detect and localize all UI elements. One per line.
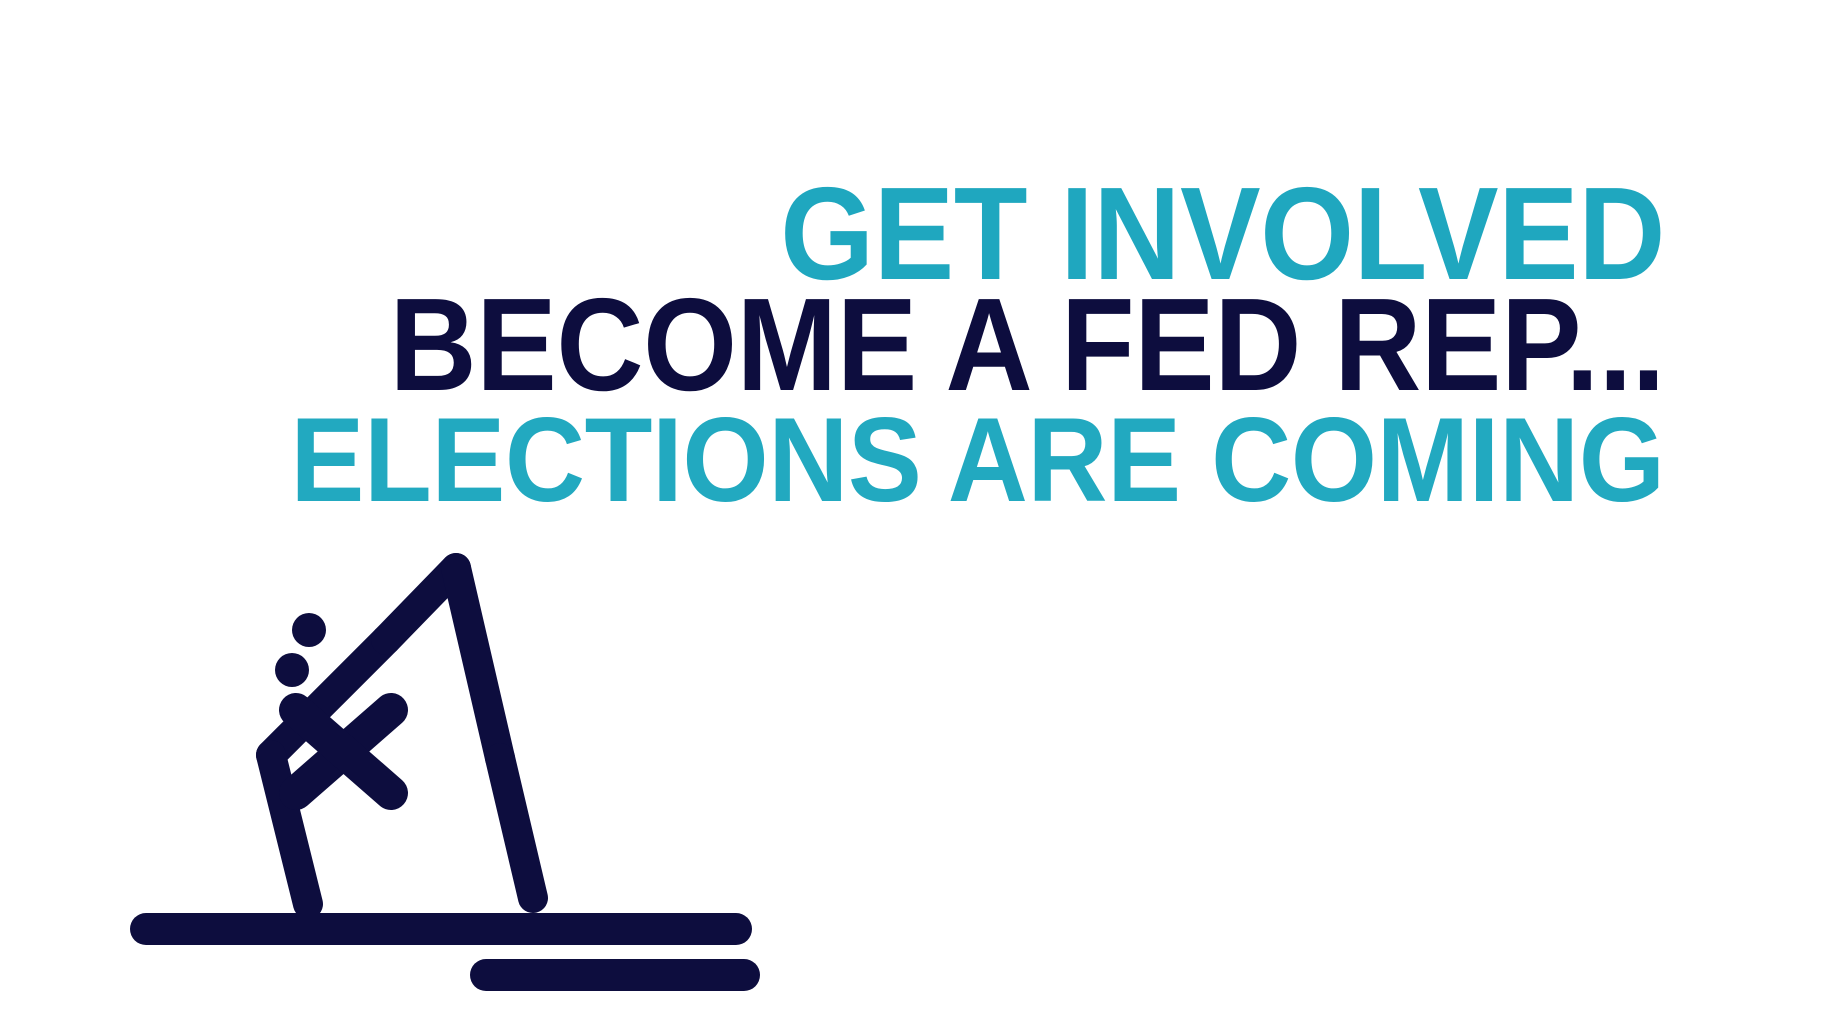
ballot-box-icon-svg [96, 540, 776, 1020]
headline-block: GET INVOLVED BECOME A FED REP... ELECTIO… [0, 0, 1829, 560]
ballot-box-icon [96, 540, 776, 1020]
promo-slide: GET INVOLVED BECOME A FED REP... ELECTIO… [0, 0, 1829, 1029]
headline-line-elections-are-coming: ELECTIONS ARE COMING [291, 400, 1665, 520]
headline-line-get-involved: GET INVOLVED [780, 168, 1665, 300]
headline-line-become-a-fed-rep: BECOME A FED REP... [390, 279, 1665, 411]
